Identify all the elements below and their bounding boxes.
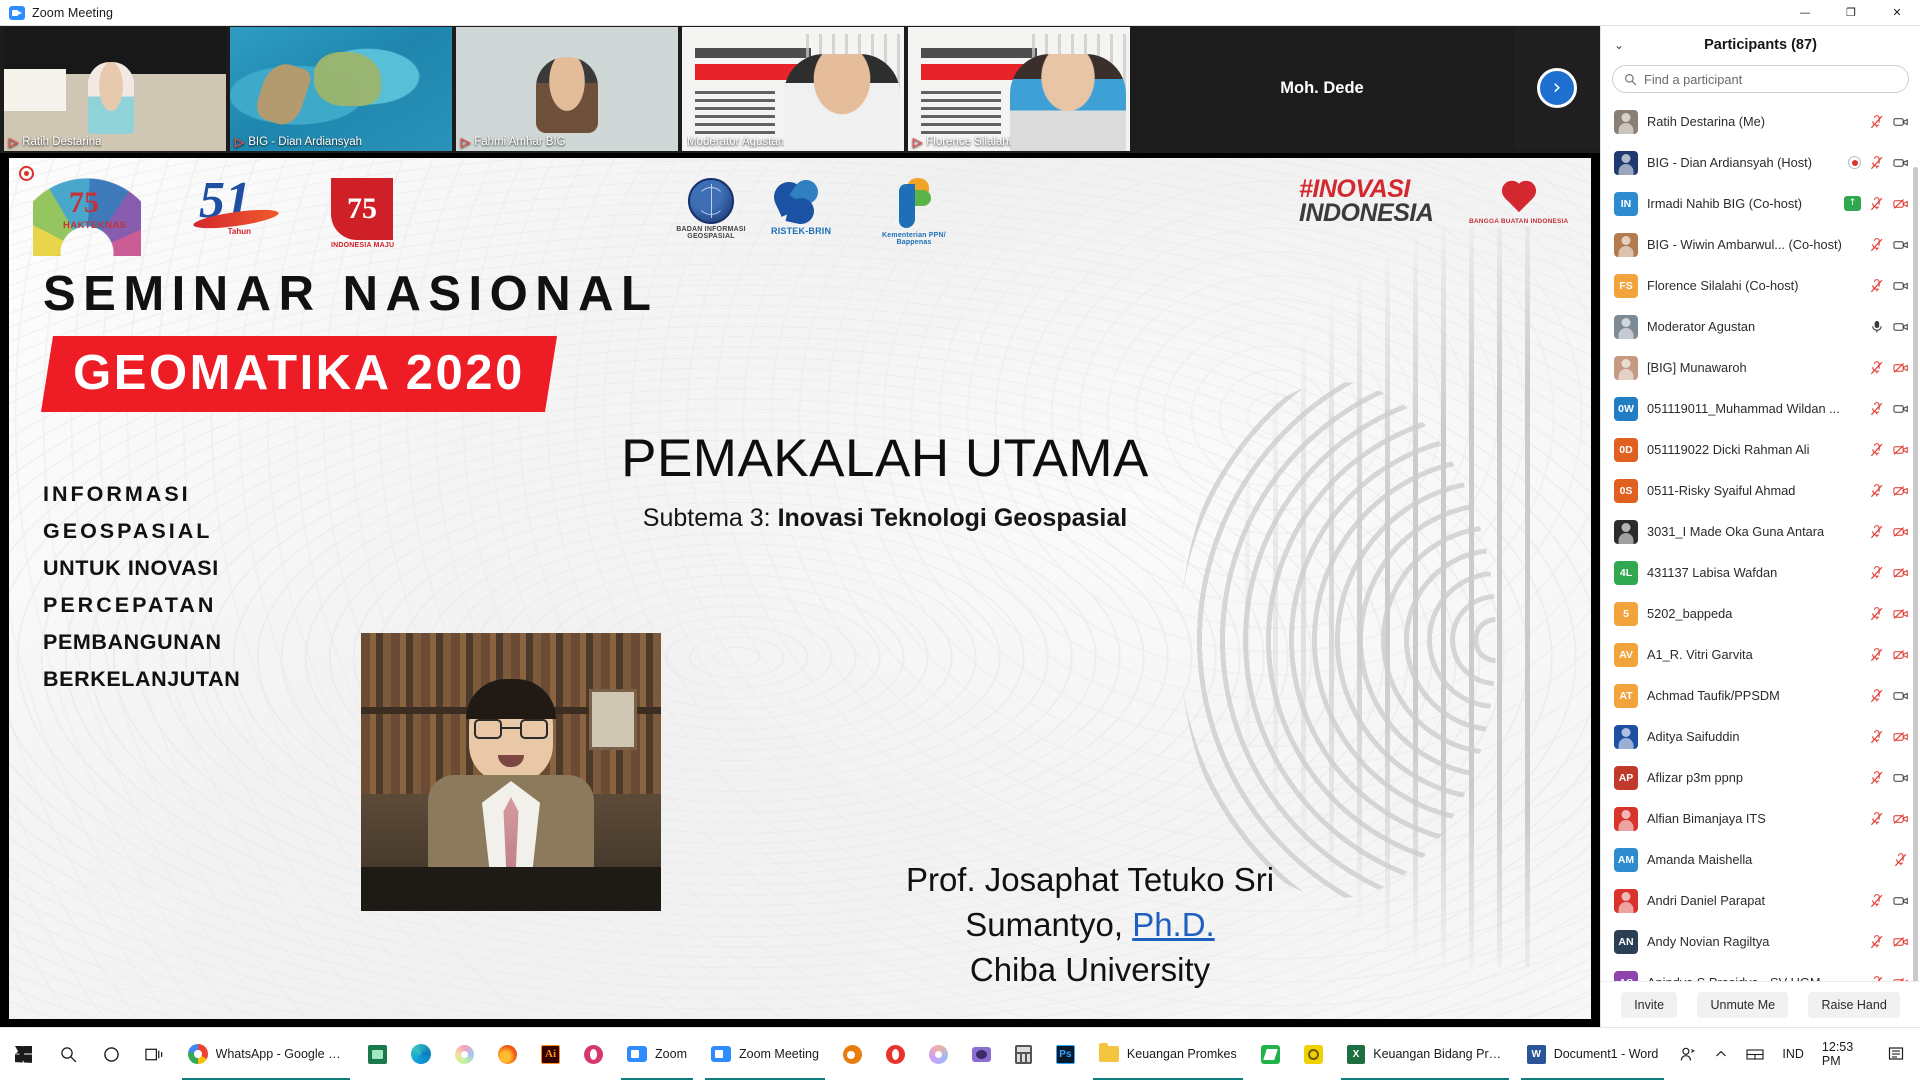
avatar — [1614, 725, 1638, 749]
participant-status-icons — [1869, 402, 1909, 416]
raise-hand-button[interactable]: Raise Hand — [1808, 992, 1899, 1018]
windows-taskbar: WhatsApp - Google C... Ai Zoom Zoom Meet… — [0, 1027, 1920, 1080]
participant-name: Ratih Destarina — [22, 136, 101, 148]
camera-off-icon[interactable] — [1893, 443, 1909, 457]
folder-icon — [1099, 1046, 1119, 1062]
camera-icon[interactable] — [1893, 689, 1909, 703]
camera-off-icon[interactable] — [1893, 197, 1909, 211]
hakteknas-logo: 75 HAKTEKNAS — [33, 178, 145, 256]
taskbar-app-zoom-meeting[interactable]: Zoom Meeting — [699, 1028, 831, 1080]
thumbnail-label: Moderator Agustan — [682, 134, 904, 151]
network-icon[interactable] — [1737, 1028, 1773, 1080]
participant-status-icons — [1869, 115, 1909, 129]
photoshop-icon: Ps — [1056, 1045, 1075, 1064]
camera-icon[interactable] — [1893, 156, 1909, 170]
presentation-slide: 75 HAKTEKNAS 51 Tahun 75 INDONESIA MAJU … — [9, 158, 1591, 1019]
event-name-text: GEOMATIKA 2020 — [73, 345, 525, 401]
camera-off-icon[interactable] — [1893, 648, 1909, 662]
video-filmstrip: ▷ Ratih Destarina ▷ BIG - Dian Ardiansya… — [0, 26, 1600, 153]
participant-row[interactable]: ANAndy Novian Ragiltya — [1601, 921, 1920, 962]
taskbar-app-tool[interactable] — [572, 1028, 615, 1080]
participant-status-icons — [1848, 156, 1909, 170]
thumbnail-video-art — [4, 27, 226, 151]
participant-row[interactable]: ATAchmad Taufik/PPSDM — [1601, 675, 1920, 716]
camera-off-icon[interactable] — [1893, 976, 1909, 982]
camera-icon[interactable] — [1893, 115, 1909, 129]
participant-row[interactable]: Andri Daniel Parapat — [1601, 880, 1920, 921]
subtheme-prefix: Subtema 3: — [643, 504, 778, 532]
muted-icon: ▷ — [913, 136, 922, 148]
participant-row[interactable]: Ratih Destarina (Me) — [1601, 101, 1920, 142]
taskbar-app-label: Keuangan Bidang Pro... — [1373, 1047, 1502, 1061]
mic-muted-icon[interactable] — [1869, 361, 1885, 375]
participant-row[interactable]: 0D051119022 Dicki Rahman Ali — [1601, 429, 1920, 470]
tagline-line: BERKELANJUTAN — [43, 661, 240, 698]
avatar — [1614, 233, 1638, 257]
avatar — [1614, 315, 1638, 339]
zoom-icon — [627, 1046, 647, 1062]
participant-status-icons — [1869, 443, 1909, 457]
participant-name: 0511-Risky Syaiful Ahmad — [1647, 483, 1860, 498]
excel-green-icon — [368, 1045, 387, 1064]
speaker-name-line2: Sumantyo, Ph.D. — [709, 903, 1471, 948]
participant-name: 431137 Labisa Wafdan — [1647, 565, 1860, 580]
window-title-bar: Zoom Meeting — ❐ ✕ — [0, 0, 1920, 26]
tagline-line: PERCEPATAN — [43, 587, 240, 624]
window-title: Zoom Meeting — [32, 6, 113, 20]
participant-name: 5202_bappeda — [1647, 606, 1860, 621]
participant-status-icons — [1869, 320, 1909, 334]
indonesia-maju-75-logo: 75 INDONESIA MAJU — [331, 178, 394, 249]
participant-name: BIG - Dian Ardiansyah (Host) — [1647, 155, 1839, 170]
mic-muted-icon[interactable] — [1869, 730, 1885, 744]
calculator-icon — [1015, 1045, 1032, 1064]
participant-name: [BIG] Munawaroh — [1647, 360, 1860, 375]
participant-status-icons — [1869, 689, 1909, 703]
hakteknas-logo-text: HAKTEKNAS — [63, 220, 126, 231]
zoom-meeting-window: Zoom Meeting — ❐ ✕ ▷ Ratih Destarina ▷ B… — [0, 0, 1920, 1080]
mic-muted-icon[interactable] — [1869, 279, 1885, 293]
mic-muted-icon[interactable] — [1869, 648, 1885, 662]
mic-muted-icon[interactable] — [1869, 525, 1885, 539]
participant-name: Moderator Agustan — [1647, 319, 1860, 334]
search-icon — [1624, 73, 1637, 86]
overflow-participant-name: Moh. Dede — [1130, 26, 1514, 150]
indonesia-maju-number: 75 — [347, 192, 377, 226]
thumbnail-video-art — [682, 27, 904, 151]
speaker-affiliation: Chiba University — [709, 948, 1471, 993]
recording-icon — [1848, 156, 1861, 169]
participant-row[interactable]: Moderator Agustan — [1601, 306, 1920, 347]
filmstrip-next-container: › — [1514, 26, 1600, 150]
zoom-icon — [711, 1046, 731, 1062]
mic-muted-icon[interactable] — [1869, 156, 1885, 170]
taskbar-app-calculator[interactable] — [1003, 1028, 1044, 1080]
participant-name: 3031_I Made Oka Guna Antara — [1647, 524, 1860, 539]
avatar — [1614, 110, 1638, 134]
participant-status-icons — [1869, 894, 1909, 908]
mic-muted-icon[interactable] — [1869, 689, 1885, 703]
illustrator-icon: Ai — [541, 1045, 560, 1064]
participant-search-box[interactable] — [1612, 65, 1909, 93]
notification-icon[interactable] — [1879, 1028, 1914, 1080]
subtheme-value: Inovasi Teknologi Geospasial — [778, 504, 1128, 532]
clock[interactable]: 12:53 PM — [1813, 1028, 1879, 1080]
avatar: 0S — [1614, 479, 1638, 503]
camera-off-icon[interactable] — [1893, 566, 1909, 580]
taskbar-app-word[interactable]: W Document1 - Word — [1515, 1028, 1671, 1080]
minimize-button[interactable]: — — [1782, 0, 1828, 26]
participant-row[interactable]: Aditya Saifuddin — [1601, 716, 1920, 757]
mic-muted-icon[interactable] — [1869, 935, 1885, 949]
camera-icon[interactable] — [1893, 320, 1909, 334]
slide-main-heading: PEMAKALAH UTAMA — [9, 428, 1591, 489]
participant-name: BIG - Wiwin Ambarwul... (Co-host) — [1647, 237, 1860, 252]
camera-off-icon[interactable] — [1893, 525, 1909, 539]
participants-panel-header: ⌄ Participants (87) — [1601, 26, 1920, 64]
participant-status-icons — [1869, 812, 1909, 826]
speaker-degree: Ph.D. — [1132, 906, 1215, 943]
muted-icon: ▷ — [9, 136, 18, 148]
seminar-title: SEMINAR NASIONAL — [43, 266, 658, 322]
invite-button[interactable]: Invite — [1621, 992, 1677, 1018]
camera-off-icon[interactable] — [1893, 361, 1909, 375]
participant-name: Alfian Bimanjaya ITS — [1647, 811, 1860, 826]
participant-name: Andy Novian Ragiltya — [1647, 934, 1860, 949]
participant-row[interactable]: FSFlorence Silalahi (Co-host) — [1601, 265, 1920, 306]
bappenas-text: Kementerian PPN/ Bappenas — [877, 232, 951, 246]
participant-row[interactable]: 55202_bappeda — [1601, 593, 1920, 634]
windows-logo-icon — [15, 1046, 32, 1063]
camera-icon[interactable] — [1893, 894, 1909, 908]
participant-row[interactable]: [BIG] Munawaroh — [1601, 347, 1920, 388]
raised-hand-icon: ↑ — [1844, 196, 1861, 211]
participant-status-icons — [1869, 238, 1909, 252]
participant-name: Amanda Maishella — [1647, 852, 1884, 867]
tagline-line: UNTUK INOVASI — [43, 550, 240, 587]
taskbar-app-excel-green[interactable] — [356, 1028, 399, 1080]
mic-muted-icon[interactable] — [1869, 197, 1885, 211]
taskbar-app-excel[interactable]: X Keuangan Bidang Pro... — [1335, 1028, 1515, 1080]
shared-screen-stage: 75 HAKTEKNAS 51 Tahun 75 INDONESIA MAJU … — [0, 153, 1600, 1027]
taskbar-app-edge[interactable] — [399, 1028, 443, 1080]
search-icon[interactable] — [47, 1028, 90, 1080]
camera-icon[interactable] — [1893, 279, 1909, 293]
participant-status-icons — [1869, 648, 1909, 662]
maximize-button[interactable]: ❐ — [1828, 0, 1874, 26]
speaker-name-block: Prof. Josaphat Tetuko Sri Sumantyo, Ph.D… — [709, 858, 1471, 993]
start-button[interactable] — [0, 1046, 47, 1063]
camera-off-icon[interactable] — [1893, 730, 1909, 744]
tagline-line: PEMBANGUNAN — [43, 624, 240, 661]
avatar: 0W — [1614, 397, 1638, 421]
video-thumbnail-active[interactable]: Moderator Agustan — [682, 27, 904, 151]
video-thumbnail[interactable]: ▷ BIG - Dian Ardiansyah — [230, 27, 452, 151]
camera-off-icon[interactable] — [1893, 812, 1909, 826]
purple-app-icon — [972, 1047, 991, 1062]
speaker-video-inset — [361, 633, 661, 911]
snake-yellow-icon — [1304, 1045, 1323, 1064]
mic-muted-icon[interactable] — [1869, 607, 1885, 621]
taskbar-app-whatsapp[interactable]: WhatsApp - Google C... — [176, 1028, 356, 1080]
avatar: AM — [1614, 848, 1638, 872]
taskbar-app-opera[interactable] — [874, 1028, 917, 1080]
mic-muted-icon[interactable] — [1869, 115, 1885, 129]
event-name-banner: GEOMATIKA 2020 — [41, 336, 557, 412]
taskbar-app-browser[interactable] — [917, 1028, 960, 1080]
participant-name: A1_R. Vitri Garvita — [1647, 647, 1860, 662]
close-button[interactable]: ✕ — [1874, 0, 1920, 26]
tool-icon — [584, 1045, 603, 1064]
mic-muted-icon[interactable] — [1869, 566, 1885, 580]
thumbnail-label: ▷ BIG - Dian Ardiansyah — [230, 134, 452, 151]
paint-icon — [455, 1045, 474, 1064]
participant-status-icons — [1869, 525, 1909, 539]
participant-row[interactable]: INIrmadi Nahib BIG (Co-host)↑ — [1601, 183, 1920, 224]
participant-row[interactable]: ASAnindya S Prasidya - SV UGM — [1601, 962, 1920, 981]
avatar: AP — [1614, 766, 1638, 790]
mic-muted-icon[interactable] — [1893, 853, 1909, 867]
participant-name: Aditya Saifuddin — [1647, 729, 1860, 744]
participant-row[interactable]: BIG - Wiwin Ambarwul... (Co-host) — [1601, 224, 1920, 265]
avatar: AV — [1614, 643, 1638, 667]
opera-icon — [886, 1045, 905, 1064]
taskbar-app-label: Document1 - Word — [1554, 1047, 1659, 1061]
people-icon[interactable] — [1670, 1028, 1705, 1080]
51-tahun-logo: 51 Tahun — [199, 178, 251, 236]
chrome-icon — [188, 1044, 207, 1064]
taskbar-app-photoshop[interactable]: Ps — [1044, 1028, 1087, 1080]
excel-icon: X — [1347, 1045, 1366, 1064]
big-logo-text: BADAN INFORMASI GEOSPASIAL — [669, 226, 753, 240]
participant-status-icons — [1869, 566, 1909, 580]
mic-muted-icon[interactable] — [1869, 976, 1885, 982]
inovasi-line1: #INOVASI — [1299, 178, 1433, 202]
participants-panel: ⌄ Participants (87) Ratih Destarina (Me)… — [1600, 26, 1920, 1027]
indonesia-maju-text: INDONESIA MAJU — [331, 242, 394, 249]
thumbnail-label: ▷ Florence Silalahi — [908, 134, 1130, 151]
muted-icon: ▷ — [461, 136, 470, 148]
participant-row[interactable]: Alfian Bimanjaya ITS — [1601, 798, 1920, 839]
taskbar-app-purple[interactable] — [960, 1028, 1003, 1080]
cortana-icon[interactable] — [90, 1028, 133, 1080]
avatar: AN — [1614, 930, 1638, 954]
participant-name: Achmad Taufik/PPSDM — [1647, 688, 1860, 703]
taskbar-app-label: WhatsApp - Google C... — [216, 1047, 345, 1061]
avatar: 0D — [1614, 438, 1638, 462]
participant-name: BIG - Dian Ardiansyah — [248, 136, 362, 148]
taskbar-app-illustrator[interactable]: Ai — [529, 1028, 572, 1080]
chevron-up-icon[interactable] — [1705, 1028, 1737, 1080]
avatar — [1614, 889, 1638, 913]
participant-name: Aflizar p3m ppnp — [1647, 770, 1860, 785]
taskbar-app-folder[interactable]: Keuangan Promkes — [1087, 1028, 1249, 1080]
slide-logo-row: 75 HAKTEKNAS 51 Tahun 75 INDONESIA MAJU … — [9, 172, 1591, 264]
participant-name: Florence Silalahi — [926, 136, 1011, 148]
speaker-name-prefix: Sumantyo, — [965, 906, 1132, 943]
unmute-me-button[interactable]: Unmute Me — [1697, 992, 1788, 1018]
thumbnail-label: ▷ Fahmi Amhar BIG — [456, 134, 678, 151]
participant-name: Fahmi Amhar BIG — [474, 136, 565, 148]
firefox-icon — [498, 1045, 517, 1064]
zoom-icon — [9, 6, 25, 20]
avatar: 4L — [1614, 561, 1638, 585]
thumbnail-label: ▷ Ratih Destarina — [4, 134, 226, 151]
thumbnail-video-art — [908, 27, 1130, 151]
participant-status-icons — [1869, 730, 1909, 744]
system-tray: IND 12:53 PM — [1670, 1028, 1920, 1080]
thumbnail-video-art — [230, 27, 452, 151]
inovasi-indonesia-logo: #INOVASI INDONESIA — [1299, 178, 1433, 225]
participant-status-icons — [1869, 279, 1909, 293]
participant-status-icons — [1869, 361, 1909, 375]
mic-muted-icon[interactable] — [1869, 443, 1885, 457]
taskbar-app-zoom[interactable]: Zoom — [615, 1028, 699, 1080]
participant-name: Florence Silalahi (Co-host) — [1647, 278, 1860, 293]
participant-row[interactable]: AVA1_R. Vitri Garvita — [1601, 634, 1920, 675]
camera-icon[interactable] — [1893, 771, 1909, 785]
bangga-buatan-indonesia-logo: BANGGA BUATAN INDONESIA — [1469, 178, 1568, 225]
mic-muted-icon[interactable] — [1869, 402, 1885, 416]
browser-icon — [929, 1045, 948, 1064]
slide-subtheme: Subtema 3: Inovasi Teknologi Geospasial — [9, 504, 1591, 533]
taskbar-app-label: Zoom Meeting — [739, 1047, 819, 1061]
participants-list[interactable]: Ratih Destarina (Me)BIG - Dian Ardiansya… — [1601, 101, 1920, 981]
avatar: AT — [1614, 684, 1638, 708]
taskbar-app-blender[interactable] — [831, 1028, 874, 1080]
avatar — [1614, 356, 1638, 380]
mic-icon[interactable] — [1869, 320, 1885, 334]
avatar: 5 — [1614, 602, 1638, 626]
mic-muted-icon[interactable] — [1869, 771, 1885, 785]
participant-name: 051119022 Dicki Rahman Ali — [1647, 442, 1860, 457]
participant-row[interactable]: APAflizar p3m ppnp — [1601, 757, 1920, 798]
camera-icon[interactable] — [1893, 238, 1909, 252]
taskbar-app-label: Zoom — [655, 1047, 687, 1061]
mic-muted-icon[interactable] — [1869, 484, 1885, 498]
participant-row[interactable]: 3031_I Made Oka Guna Antara — [1601, 511, 1920, 552]
muted-icon: ▷ — [235, 136, 244, 148]
participants-scrollbar[interactable] — [1913, 167, 1918, 981]
chevron-right-icon[interactable]: › — [1537, 68, 1577, 108]
participant-name: Anindya S Prasidya - SV UGM — [1647, 975, 1860, 981]
window-controls: — ❐ ✕ — [1782, 0, 1920, 26]
participant-name: Moderator Agustan — [687, 136, 784, 148]
participant-status-icons — [1869, 976, 1909, 982]
mic-muted-icon[interactable] — [1869, 238, 1885, 252]
participant-status-icons — [1869, 771, 1909, 785]
participant-row[interactable]: 0S0511-Risky Syaiful Ahmad — [1601, 470, 1920, 511]
taskbar-app-label: Keuangan Promkes — [1127, 1047, 1237, 1061]
participant-status-icons — [1869, 484, 1909, 498]
inovasi-line2: INDONESIA — [1299, 202, 1433, 226]
chevron-down-icon[interactable]: ⌄ — [1614, 38, 1624, 52]
avatar — [1614, 807, 1638, 831]
participants-panel-title: Participants (87) — [1601, 37, 1920, 53]
participant-status-icons — [1869, 607, 1909, 621]
thumbnail-video-art — [456, 27, 678, 151]
blender-icon — [843, 1045, 862, 1064]
participants-panel-footer: Invite Unmute Me Raise Hand — [1601, 981, 1920, 1027]
video-thumbnail[interactable]: ▷ Florence Silalahi — [908, 27, 1130, 151]
avatar: IN — [1614, 192, 1638, 216]
participant-row[interactable]: 0W051119011_Muhammad Wildan ... — [1601, 388, 1920, 429]
speaker-name-line1: Prof. Josaphat Tetuko Sri — [709, 858, 1471, 903]
taskbar-app-money[interactable] — [1249, 1028, 1292, 1080]
participant-name: Ratih Destarina (Me) — [1647, 114, 1860, 129]
task-view-icon[interactable] — [133, 1028, 176, 1080]
participant-name: Andri Daniel Parapat — [1647, 893, 1860, 908]
participant-search-container — [1601, 64, 1920, 101]
ristek-brin-text: RISTEK-BRIN — [771, 226, 831, 236]
taskbar-app-firefox[interactable] — [486, 1028, 529, 1080]
search-input[interactable] — [1644, 72, 1897, 87]
kementerian-ppn-bappenas-logo: Kementerian PPN/ Bappenas — [877, 178, 951, 246]
mic-muted-icon[interactable] — [1869, 894, 1885, 908]
edge-icon — [411, 1044, 431, 1064]
participant-row[interactable]: BIG - Dian Ardiansyah (Host) — [1601, 142, 1920, 183]
avatar — [1614, 151, 1638, 175]
camera-off-icon[interactable] — [1893, 935, 1909, 949]
word-icon: W — [1527, 1045, 1546, 1064]
mic-muted-icon[interactable] — [1869, 812, 1885, 826]
participant-status-icons: ↑ — [1844, 196, 1909, 211]
video-thumbnail[interactable]: ▷ Ratih Destarina — [4, 27, 226, 151]
participant-row[interactable]: AMAmanda Maishella — [1601, 839, 1920, 880]
participant-name: Irmadi Nahib BIG (Co-host) — [1647, 196, 1835, 211]
camera-icon[interactable] — [1893, 402, 1909, 416]
avatar — [1614, 520, 1638, 544]
avatar: AS — [1614, 971, 1638, 982]
participant-status-icons — [1893, 853, 1909, 867]
participant-row[interactable]: 4L431137 Labisa Wafdan — [1601, 552, 1920, 593]
ristek-brin-logo: RISTEK-BRIN — [771, 178, 831, 236]
camera-off-icon[interactable] — [1893, 484, 1909, 498]
badan-informasi-geospasial-logo: BADAN INFORMASI GEOSPASIAL — [669, 178, 753, 240]
camera-off-icon[interactable] — [1893, 607, 1909, 621]
video-thumbnail[interactable]: ▷ Fahmi Amhar BIG — [456, 27, 678, 151]
language-indicator[interactable]: IND — [1773, 1028, 1813, 1080]
bangga-text: BANGGA BUATAN INDONESIA — [1469, 218, 1568, 225]
participant-status-icons — [1869, 935, 1909, 949]
avatar: FS — [1614, 274, 1638, 298]
taskbar-app-snake[interactable] — [1292, 1028, 1335, 1080]
taskbar-app-paint[interactable] — [443, 1028, 486, 1080]
money-green-icon — [1261, 1045, 1280, 1064]
participant-name: 051119011_Muhammad Wildan ... — [1647, 401, 1860, 416]
